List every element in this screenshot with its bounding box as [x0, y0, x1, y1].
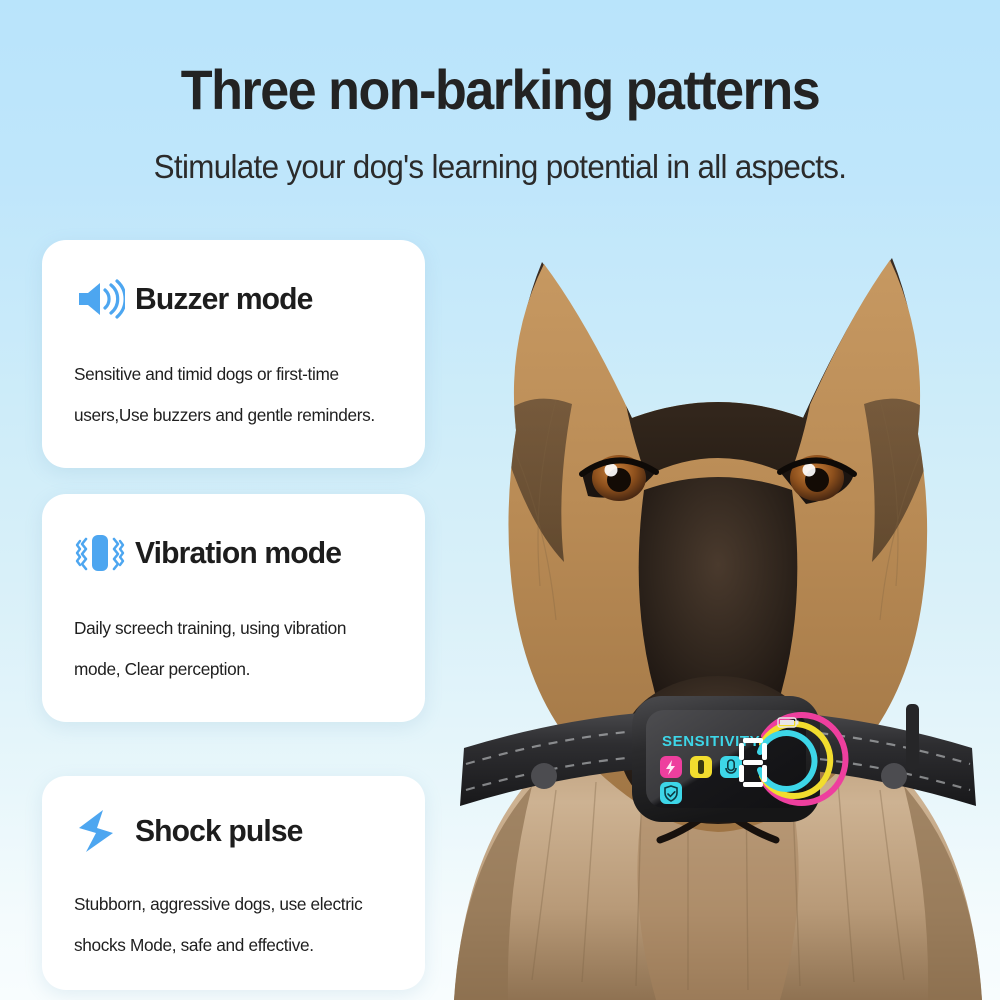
feature-title: Vibration mode — [135, 535, 341, 571]
feature-description: Daily screech training, using vibration … — [42, 582, 425, 690]
feature-description-line-2: mode, Clear perception. — [74, 649, 394, 690]
feature-card-header: Vibration mode — [42, 494, 425, 582]
feature-title: Shock pulse — [135, 813, 303, 849]
feature-card-vibration-mode[interactable]: Vibration mode Daily screech training, u… — [42, 494, 425, 722]
feature-description-line-2: users,Use buzzers and gentle reminders. — [74, 395, 394, 436]
feature-card-header: Shock pulse — [42, 776, 425, 860]
feature-description-line-1: Sensitive and timid dogs or first-time — [74, 354, 394, 395]
feature-card-buzzer-mode[interactable]: Buzzer mode Sensitive and timid dogs or … — [42, 240, 425, 468]
feature-card-header: Buzzer mode — [42, 240, 425, 328]
vibration-icon — [74, 530, 126, 576]
feature-description-line-1: Daily screech training, using vibration — [74, 608, 394, 649]
lightning-bolt-icon — [74, 808, 126, 854]
collar-device: SENSITIVITY — [632, 696, 846, 822]
feature-description-line-1: Stubborn, aggressive dogs, use electric — [74, 884, 394, 925]
feature-description: Stubborn, aggressive dogs, use electric … — [42, 860, 425, 966]
feature-description: Sensitive and timid dogs or first-time u… — [42, 328, 425, 436]
feature-title: Buzzer mode — [135, 281, 313, 317]
infographic-poster: SENSITIVITY — [0, 0, 1000, 1000]
page-title: Three non-barking patterns — [35, 58, 965, 122]
page-subtitle: Stimulate your dog's learning potential … — [25, 146, 975, 188]
feature-description-line-2: shocks Mode, safe and effective. — [74, 925, 394, 966]
speaker-wave-icon — [74, 276, 126, 322]
dog-product-photo: SENSITIVITY — [436, 190, 1000, 1000]
feature-card-shock-pulse[interactable]: Shock pulse Stubborn, aggressive dogs, u… — [42, 776, 425, 990]
